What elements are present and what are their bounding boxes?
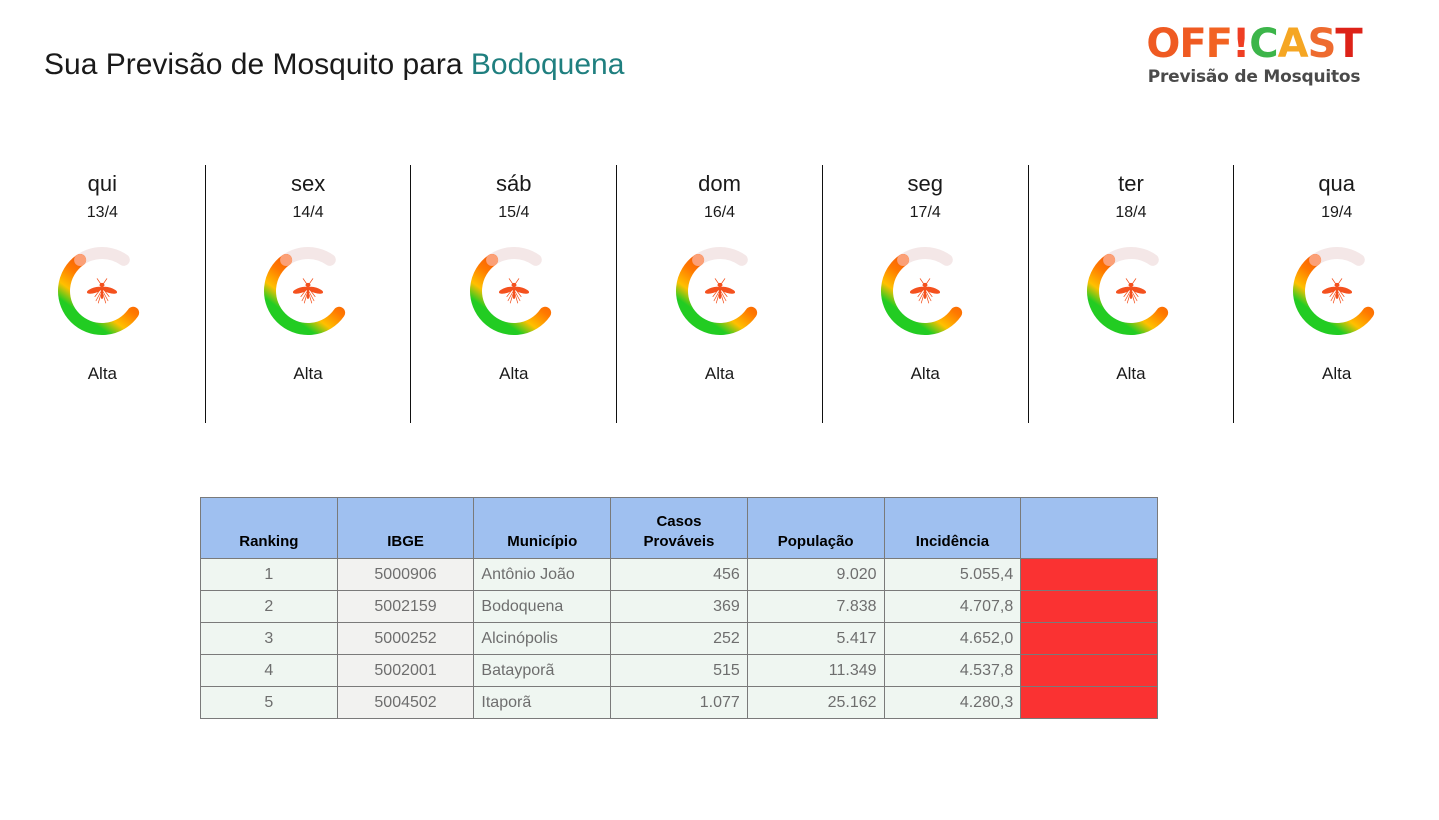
risk-gauge (1285, 239, 1389, 343)
logo-letter-f2: F (1206, 22, 1232, 66)
day-date: 17/4 (910, 203, 941, 223)
day-card-sáb[interactable]: sáb 15/4 (410, 165, 616, 423)
day-date: 16/4 (704, 203, 735, 223)
forecast-strip: qui 13/4 (0, 165, 1439, 423)
day-name: seg (907, 171, 942, 197)
col-header-municipio: Município (474, 498, 611, 559)
day-risk-level: Alta (911, 364, 940, 384)
cell-populacao: 7.838 (747, 591, 884, 623)
day-risk-level: Alta (1116, 364, 1145, 384)
cell-municipio: Alcinópolis (474, 623, 611, 655)
day-date: 18/4 (1115, 203, 1146, 223)
day-name: sáb (496, 171, 531, 197)
cell-ranking: 2 (201, 591, 338, 623)
day-name: dom (698, 171, 741, 197)
logo-letter-exclamation: ! (1232, 22, 1249, 66)
offcast-logo: OFF!CAST Previsão de Mosquitos (1129, 22, 1379, 87)
cell-municipio: Antônio João (474, 559, 611, 591)
cell-municipio: Batayporã (474, 655, 611, 687)
cell-ibge: 5002001 (337, 655, 474, 687)
cell-casos: 456 (611, 559, 748, 591)
cell-casos: 1.077 (611, 687, 748, 719)
day-risk-level: Alta (705, 364, 734, 384)
logo-letter-a: A (1278, 22, 1308, 66)
day-card-qua[interactable]: qua 19/4 (1233, 165, 1439, 423)
ranking-table-container: Ranking IBGE Município Casos Prováveis P… (200, 497, 1158, 719)
risk-gauge (1079, 239, 1183, 343)
day-risk-level: Alta (293, 364, 322, 384)
cell-ranking: 3 (201, 623, 338, 655)
risk-gauge (256, 239, 360, 343)
day-date: 19/4 (1321, 203, 1352, 223)
day-risk-level: Alta (88, 364, 117, 384)
day-card-seg[interactable]: seg 17/4 (822, 165, 1028, 423)
logo-letter-f1: F (1179, 22, 1205, 66)
table-row[interactable]: 3 5000252 Alcinópolis 252 5.417 4.652,0 (201, 623, 1158, 655)
cell-ranking: 5 (201, 687, 338, 719)
col-header-populacao: População (747, 498, 884, 559)
col-header-incidencia: Incidência (884, 498, 1021, 559)
day-risk-level: Alta (1322, 364, 1351, 384)
col-header-casos-line2: Prováveis (618, 532, 740, 552)
status-badge (1021, 559, 1158, 591)
cell-populacao: 5.417 (747, 623, 884, 655)
logo-letter-s: S (1308, 22, 1336, 66)
logo-letter-t: T (1335, 22, 1361, 66)
risk-gauge (50, 239, 154, 343)
table-row[interactable]: 4 5002001 Batayporã 515 11.349 4.537,8 (201, 655, 1158, 687)
risk-gauge (462, 239, 566, 343)
day-date: 13/4 (87, 203, 118, 223)
table-row[interactable]: 5 5004502 Itaporã 1.077 25.162 4.280,3 (201, 687, 1158, 719)
day-card-qui[interactable]: qui 13/4 (0, 165, 205, 423)
cell-incidencia: 4.707,8 (884, 591, 1021, 623)
col-header-ibge: IBGE (337, 498, 474, 559)
page-header: Sua Previsão de Mosquito para Bodoquena … (0, 0, 1439, 120)
table-row[interactable]: 2 5002159 Bodoquena 369 7.838 4.707,8 (201, 591, 1158, 623)
day-risk-level: Alta (499, 364, 528, 384)
cell-populacao: 11.349 (747, 655, 884, 687)
cell-casos: 252 (611, 623, 748, 655)
cell-casos: 515 (611, 655, 748, 687)
day-name: qui (88, 171, 117, 197)
offcast-tagline: Previsão de Mosquitos (1129, 67, 1379, 87)
day-date: 15/4 (498, 203, 529, 223)
cell-ranking: 4 (201, 655, 338, 687)
status-badge (1021, 655, 1158, 687)
cell-municipio: Itaporã (474, 687, 611, 719)
page-title-prefix: Sua Previsão de Mosquito para (44, 48, 471, 81)
page-title-city: Bodoquena (471, 48, 625, 81)
ranking-table: Ranking IBGE Município Casos Prováveis P… (200, 497, 1158, 719)
table-row[interactable]: 1 5000906 Antônio João 456 9.020 5.055,4 (201, 559, 1158, 591)
col-header-casos-line1: Casos (618, 512, 740, 532)
status-badge (1021, 591, 1158, 623)
ranking-table-body: 1 5000906 Antônio João 456 9.020 5.055,4… (201, 559, 1158, 719)
col-header-casos-provaveis: Casos Prováveis (611, 498, 748, 559)
day-card-sex[interactable]: sex 14/4 (205, 165, 411, 423)
table-header-row: Ranking IBGE Município Casos Prováveis P… (201, 498, 1158, 559)
cell-ibge: 5002159 (337, 591, 474, 623)
ranking-table-head: Ranking IBGE Município Casos Prováveis P… (201, 498, 1158, 559)
day-name: qua (1318, 171, 1355, 197)
cell-ibge: 5000906 (337, 559, 474, 591)
day-card-dom[interactable]: dom 16/4 (616, 165, 822, 423)
logo-letter-o: O (1146, 22, 1179, 66)
cell-ibge: 5000252 (337, 623, 474, 655)
col-header-status (1021, 498, 1158, 559)
day-date: 14/4 (293, 203, 324, 223)
day-card-ter[interactable]: ter 18/4 (1028, 165, 1234, 423)
cell-ranking: 1 (201, 559, 338, 591)
cell-incidencia: 4.652,0 (884, 623, 1021, 655)
cell-casos: 369 (611, 591, 748, 623)
offcast-wordmark: OFF!CAST (1129, 22, 1379, 66)
cell-populacao: 9.020 (747, 559, 884, 591)
day-name: sex (291, 171, 325, 197)
status-badge (1021, 687, 1158, 719)
day-name: ter (1118, 171, 1144, 197)
cell-incidencia: 4.280,3 (884, 687, 1021, 719)
col-header-ranking: Ranking (201, 498, 338, 559)
cell-populacao: 25.162 (747, 687, 884, 719)
risk-gauge (873, 239, 977, 343)
cell-incidencia: 5.055,4 (884, 559, 1021, 591)
risk-gauge (668, 239, 772, 343)
logo-letter-c: C (1249, 22, 1277, 66)
cell-incidencia: 4.537,8 (884, 655, 1021, 687)
cell-ibge: 5004502 (337, 687, 474, 719)
status-badge (1021, 623, 1158, 655)
page-title: Sua Previsão de Mosquito para Bodoquena (44, 46, 624, 84)
cell-municipio: Bodoquena (474, 591, 611, 623)
